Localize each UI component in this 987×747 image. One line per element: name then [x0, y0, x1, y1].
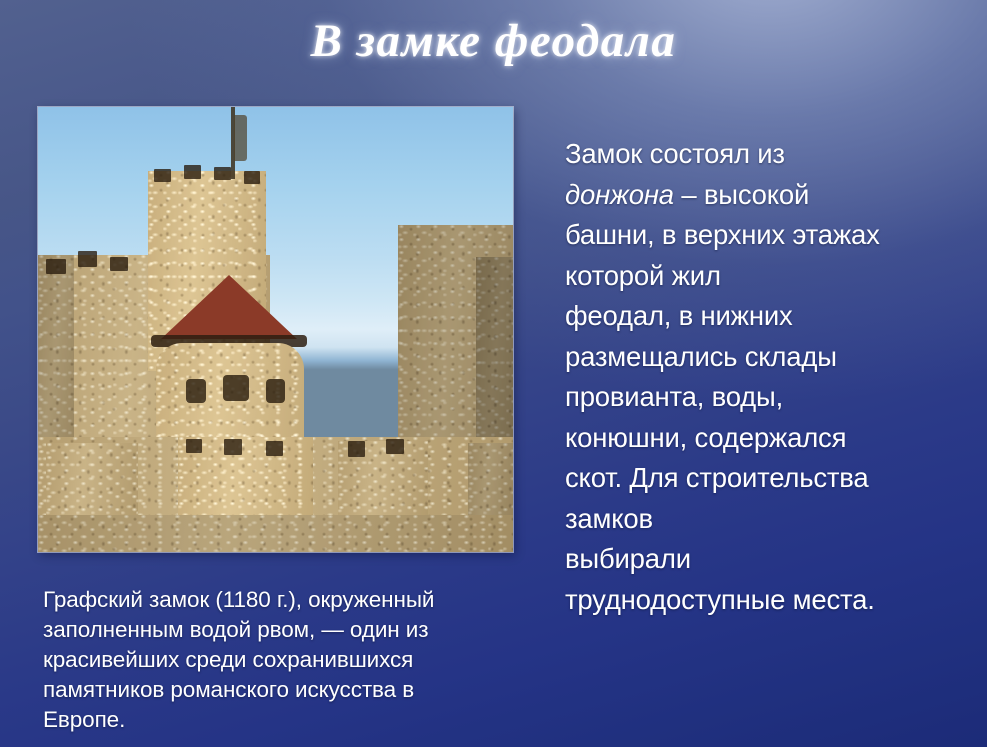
photo-foundation — [38, 515, 513, 552]
photo-crenel — [266, 441, 283, 456]
body-line: донжона – высокой — [565, 175, 985, 216]
photo-crenel — [110, 257, 128, 271]
photo-crenel — [214, 167, 231, 180]
body-line: скот. Для строительства — [565, 458, 985, 499]
body-line: которой жил — [565, 256, 985, 297]
caption-line: Графский замок (1180 г.), окруженный — [43, 585, 513, 615]
caption-line: красивейших среди сохранившихся — [43, 645, 513, 675]
photo-caption: Графский замок (1180 г.), окруженный зап… — [43, 585, 513, 735]
photo-tower-window — [223, 375, 249, 401]
photo-crenel — [154, 169, 171, 182]
photo-crenel — [186, 439, 202, 453]
castle-photo-image — [38, 107, 513, 552]
photo-crenel — [386, 439, 404, 454]
body-line: труднодоступные места. — [565, 580, 985, 621]
presentation-slide: В замке феодала — [0, 0, 987, 747]
photo-tower-window — [266, 379, 285, 403]
photo-crenel — [244, 171, 260, 184]
body-line-suffix: – высокой — [674, 179, 809, 210]
body-line: феодал, в нижних — [565, 296, 985, 337]
body-line: провианта, воды, — [565, 377, 985, 418]
body-line: конюшни, содержался — [565, 418, 985, 459]
page-title: В замке феодала — [0, 14, 987, 68]
photo-tower-roof — [161, 275, 297, 339]
body-line: замков — [565, 499, 985, 540]
body-line: выбирали — [565, 539, 985, 580]
caption-line: памятников романского искусства в — [43, 675, 513, 705]
body-line: башни, в верхних этажах — [565, 215, 985, 256]
caption-line: заполненным водой рвом, — один из — [43, 615, 513, 645]
photo-crenel — [78, 251, 97, 267]
body-line: размещались склады — [565, 337, 985, 378]
photo-flag — [234, 115, 247, 161]
caption-line: Европе. — [43, 705, 513, 735]
photo-crenel — [184, 165, 201, 179]
body-line: Замок состоял из — [565, 134, 985, 175]
body-term-donjon: донжона — [565, 179, 674, 210]
photo-crenel — [46, 259, 66, 274]
castle-photo — [38, 107, 513, 552]
photo-tower-window — [186, 379, 206, 403]
photo-crenel — [348, 441, 365, 457]
photo-crenel — [224, 439, 242, 455]
body-text: Замок состоял из донжона – высокой башни… — [565, 134, 985, 620]
